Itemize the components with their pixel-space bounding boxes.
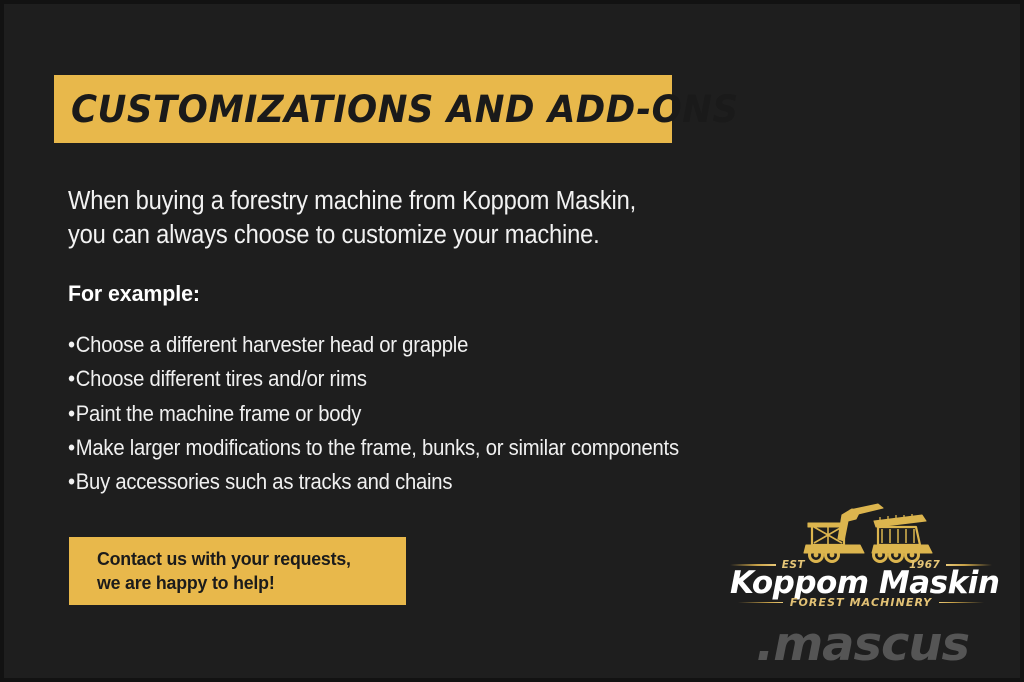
advertisement-slide: CUSTOMIZATIONS AND ADD-ONS When buying a… bbox=[0, 0, 1024, 682]
logo-tagline-rule-right bbox=[939, 602, 984, 604]
list-item: •Paint the machine frame or body bbox=[68, 397, 767, 431]
bullet-marker-icon: • bbox=[68, 366, 75, 391]
list-item-label: Buy accessories such as tracks and chain… bbox=[76, 469, 452, 494]
bullet-marker-icon: • bbox=[68, 469, 75, 494]
list-item: •Buy accessories such as tracks and chai… bbox=[68, 465, 767, 499]
list-item-label: Make larger modifications to the frame, … bbox=[76, 435, 679, 460]
customization-options-list: •Choose a different harvester head or gr… bbox=[68, 328, 828, 499]
bullet-marker-icon: • bbox=[68, 435, 75, 460]
logo-tagline: FOREST MACHINERY bbox=[790, 596, 932, 609]
koppom-maskin-logo: EST 1967 Koppom Maskin FOREST MACHINERY bbox=[730, 501, 992, 614]
intro-line-1: When buying a forestry machine from Kopp… bbox=[68, 184, 719, 218]
list-item: •Choose different tires and/or rims bbox=[68, 362, 767, 396]
page-title: CUSTOMIZATIONS AND ADD-ONS bbox=[71, 88, 739, 131]
contact-button-line-2: we are happy to help! bbox=[97, 571, 394, 595]
intro-paragraph: When buying a forestry machine from Kopp… bbox=[68, 184, 768, 252]
list-item-label: Choose a different harvester head or gra… bbox=[76, 332, 468, 357]
mascus-watermark: .mascus bbox=[756, 617, 969, 672]
list-item: •Make larger modifications to the frame,… bbox=[68, 431, 767, 465]
contact-us-button[interactable]: Contact us with your requests, we are ha… bbox=[69, 537, 406, 605]
logo-tagline-row: FOREST MACHINERY bbox=[738, 596, 984, 609]
contact-button-line-1: Contact us with your requests, bbox=[97, 547, 394, 571]
list-item-label: Paint the machine frame or body bbox=[76, 401, 361, 426]
title-banner: CUSTOMIZATIONS AND ADD-ONS bbox=[54, 75, 672, 143]
forestry-harvester-icon bbox=[782, 501, 942, 563]
logo-tagline-rule-left bbox=[738, 602, 783, 604]
list-item-label: Choose different tires and/or rims bbox=[76, 366, 367, 391]
bullet-marker-icon: • bbox=[68, 401, 75, 426]
intro-line-2: you can always choose to customize your … bbox=[68, 218, 719, 252]
list-item: •Choose a different harvester head or gr… bbox=[68, 328, 767, 362]
for-example-heading: For example: bbox=[68, 281, 200, 307]
bullet-marker-icon: • bbox=[68, 332, 75, 357]
